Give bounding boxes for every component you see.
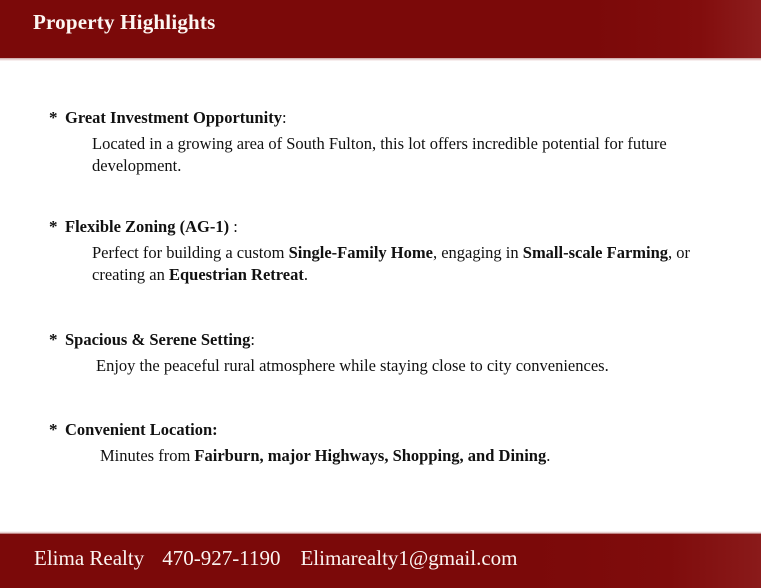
- highlight-item: *Spacious & Serene Setting: Enjoy the pe…: [0, 329, 761, 377]
- highlight-item: *Convenient Location: Minutes from Fairb…: [0, 419, 761, 467]
- body-segment: Minutes from: [100, 446, 194, 465]
- highlight-heading-label: Great Investment Opportunity: [65, 108, 282, 127]
- body-segment: .: [304, 265, 308, 284]
- bullet-star-icon: *: [49, 107, 58, 129]
- highlight-heading-label: Spacious & Serene Setting: [65, 330, 250, 349]
- bullet-star-icon: *: [49, 419, 58, 441]
- footer-banner: Elima Realty470-927-1190Elimarealty1@gma…: [0, 534, 761, 588]
- highlight-body: Perfect for building a custom Single-Fam…: [0, 242, 761, 286]
- highlight-body: Located in a growing area of South Fulto…: [0, 133, 761, 177]
- highlight-heading-label: Convenient Location:: [65, 420, 218, 439]
- page-title: Property Highlights: [33, 10, 216, 35]
- highlight-heading: *Spacious & Serene Setting:: [0, 329, 761, 351]
- body-segment: Small-scale Farming: [523, 243, 668, 262]
- phone-number[interactable]: 470-927-1190: [162, 546, 280, 570]
- body-segment: Enjoy the peaceful rural atmosphere whil…: [96, 356, 609, 375]
- body-segment: Fairburn, major Highways, Shopping, and …: [194, 446, 546, 465]
- highlight-item: *Flexible Zoning (AG-1) : Perfect for bu…: [0, 216, 761, 286]
- body-segment: Equestrian Retreat: [169, 265, 304, 284]
- highlight-body: Enjoy the peaceful rural atmosphere whil…: [0, 355, 761, 377]
- body-segment: Located in a growing area of South Fulto…: [92, 134, 667, 175]
- highlight-heading-punct: :: [250, 330, 255, 349]
- body-segment: .: [546, 446, 550, 465]
- highlight-heading: *Convenient Location:: [0, 419, 761, 441]
- bullet-star-icon: *: [49, 329, 58, 351]
- footer-contact-line: Elima Realty470-927-1190Elimarealty1@gma…: [34, 546, 517, 571]
- highlight-heading: *Flexible Zoning (AG-1) :: [0, 216, 761, 238]
- slide-content: *Great Investment Opportunity: Located i…: [0, 61, 761, 534]
- email-address[interactable]: Elimarealty1@gmail.com: [300, 546, 517, 570]
- highlight-body: Minutes from Fairburn, major Highways, S…: [0, 445, 761, 467]
- company-name: Elima Realty: [34, 546, 144, 570]
- highlight-heading-punct: :: [282, 108, 287, 127]
- bullet-star-icon: *: [49, 216, 58, 238]
- highlight-heading: *Great Investment Opportunity:: [0, 107, 761, 129]
- body-segment: Single-Family Home: [289, 243, 433, 262]
- highlight-heading-label: Flexible Zoning (AG-1): [65, 217, 229, 236]
- highlight-heading-punct: :: [229, 217, 238, 236]
- body-segment: Perfect for building a custom: [92, 243, 289, 262]
- body-segment: , engaging in: [433, 243, 523, 262]
- highlight-item: *Great Investment Opportunity: Located i…: [0, 107, 761, 177]
